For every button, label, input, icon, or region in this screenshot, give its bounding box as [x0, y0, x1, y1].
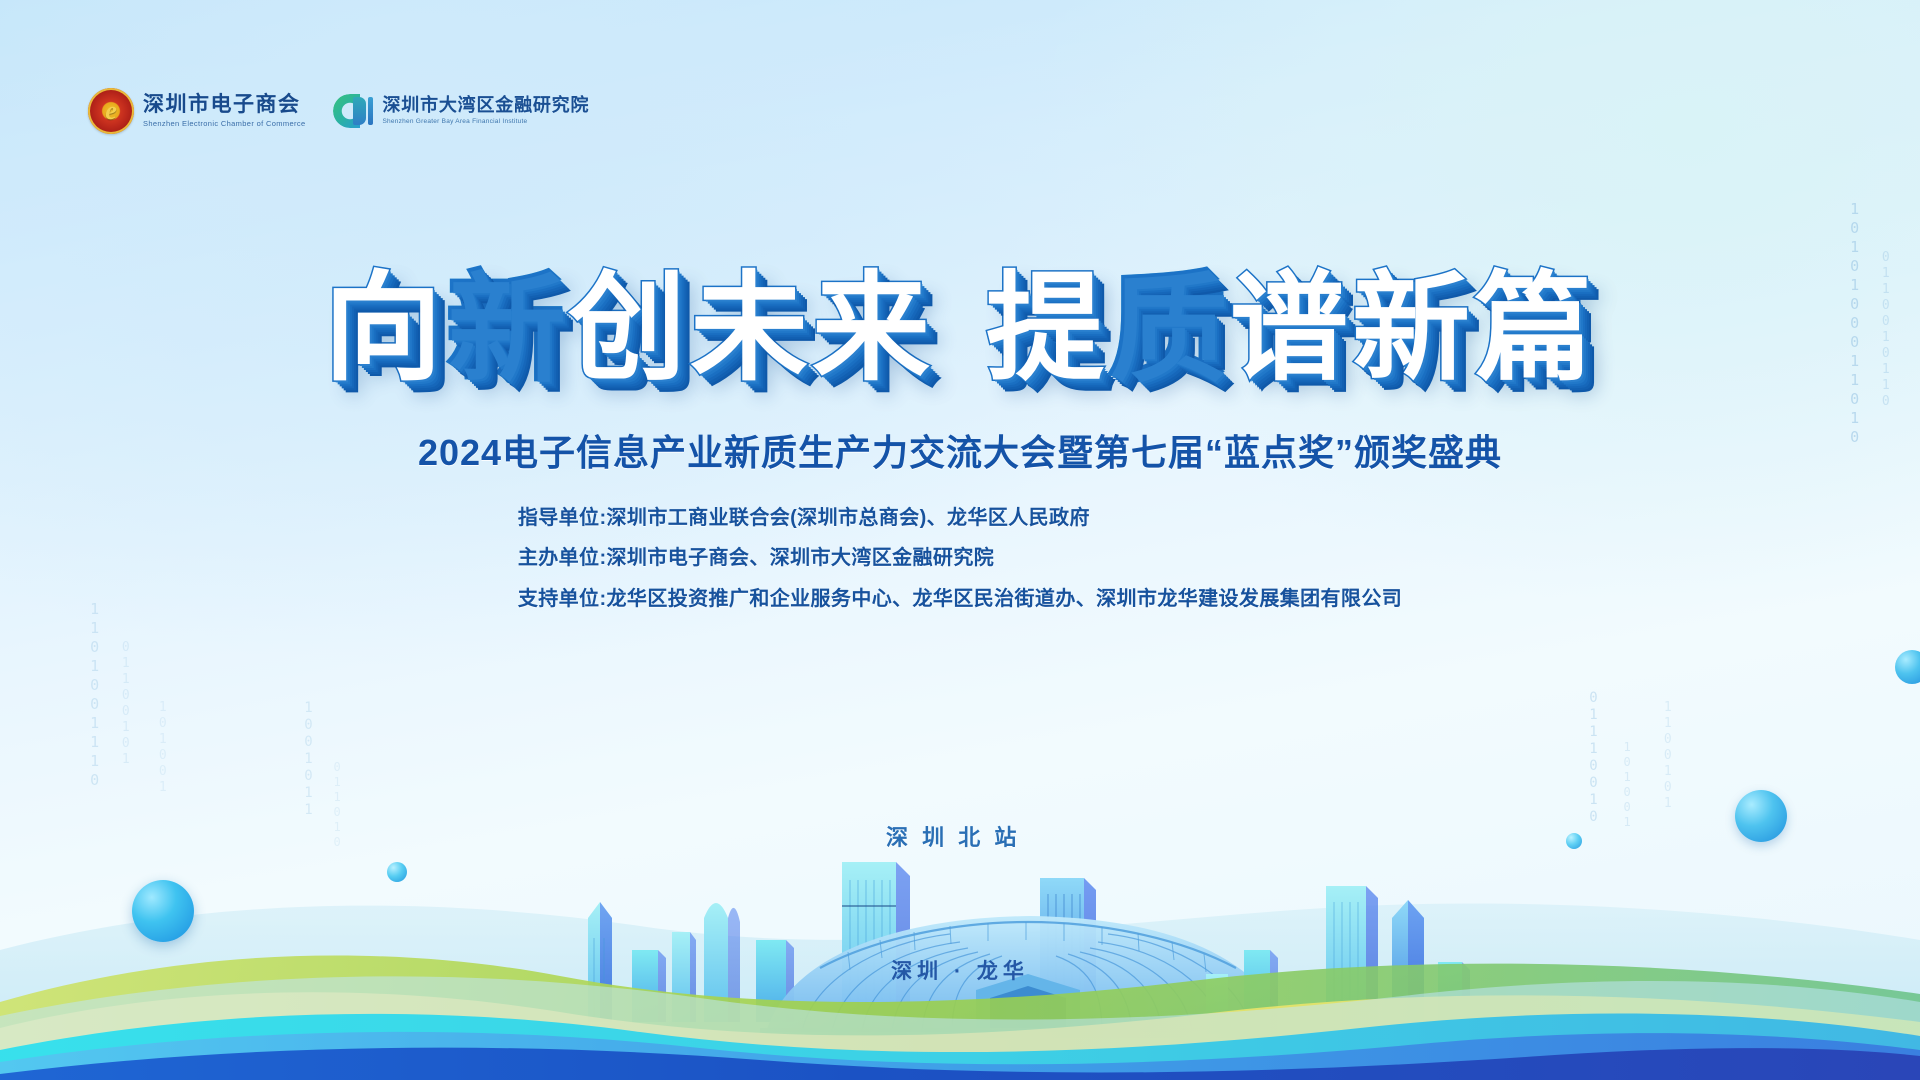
gbi-logo-text: 深圳市大湾区金融研究院 Shenzhen Greater Bay Area Fi…	[382, 95, 589, 126]
organizer-line-support: 支持单位:龙华区投资推广和企业服务中心、龙华区民治街道办、深圳市龙华建设发展集团…	[518, 579, 1402, 619]
footer-location-label: 深圳 · 龙华	[0, 955, 1920, 985]
logo-bar: 深圳市电子商会 Shenzhen Electronic Chamber of C…	[88, 88, 589, 134]
skyline-illustration	[0, 650, 1920, 1080]
main-title-wrapper: 向新创未来提质谱新篇	[0, 268, 1920, 392]
title-char: 向	[324, 268, 446, 392]
title-char: 未	[690, 268, 812, 392]
logo-shenzhen-electronic-chamber: 深圳市电子商会 Shenzhen Electronic Chamber of C…	[88, 88, 305, 134]
title-char: 质	[1108, 268, 1230, 392]
gbi-logo-en: Shenzhen Greater Bay Area Financial Inst…	[382, 118, 589, 126]
chamber-logo-text: 深圳市电子商会 Shenzhen Electronic Chamber of C…	[143, 93, 305, 129]
title-char: 提	[986, 268, 1108, 392]
chamber-logo-en: Shenzhen Electronic Chamber of Commerce	[143, 119, 305, 129]
gbi-logo-cn: 深圳市大湾区金融研究院	[382, 95, 589, 116]
subtitle: 2024电子信息产业新质生产力交流大会暨第七届“蓝点奖”颁奖盛典	[0, 424, 1920, 476]
decorative-sphere	[1566, 833, 1582, 849]
chamber-seal-icon	[88, 88, 134, 134]
title-char: 新	[1352, 268, 1474, 392]
organizer-line-guidance: 指导单位:深圳市工商业联合会(深圳市总商会)、龙华区人民政府	[518, 498, 1402, 538]
poster-canvas: 1010100011010 0110010110 1101001110 0110…	[0, 0, 1920, 1080]
organizer-line-host: 主办单位:深圳市电子商会、深圳市大湾区金融研究院	[518, 538, 1402, 578]
title-char: 来	[812, 268, 934, 392]
main-title: 向新创未来提质谱新篇	[324, 268, 1596, 392]
station-label: 深 圳 北 站	[886, 820, 1020, 852]
title-char: 谱	[1230, 268, 1352, 392]
chamber-logo-cn: 深圳市电子商会	[143, 93, 305, 117]
title-char: 篇	[1474, 268, 1596, 392]
decorative-sphere	[132, 880, 194, 942]
title-char: 创	[568, 268, 690, 392]
organizer-block: 指导单位:深圳市工商业联合会(深圳市总商会)、龙华区人民政府 主办单位:深圳市电…	[0, 498, 1920, 619]
decorative-sphere	[387, 862, 407, 882]
gbi-logo-icon	[333, 94, 373, 128]
title-char: 新	[446, 268, 568, 392]
decorative-sphere	[1735, 790, 1787, 842]
logo-gba-financial-institute: 深圳市大湾区金融研究院 Shenzhen Greater Bay Area Fi…	[333, 94, 589, 128]
